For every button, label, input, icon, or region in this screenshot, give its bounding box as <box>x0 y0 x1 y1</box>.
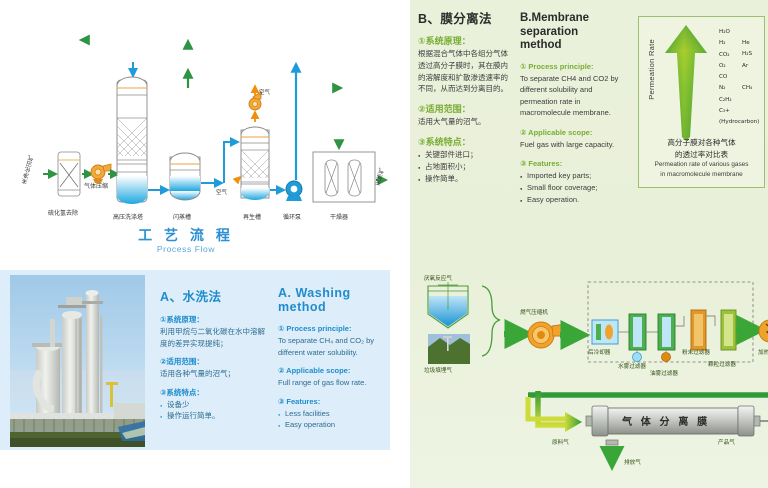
washing-en-body-0: To separate CH₄ and CO₂ by different wat… <box>278 335 390 358</box>
membrane-cn-title-1: ②适用范围： <box>418 103 515 115</box>
membrane-cn-title-0: ①系统原理： <box>418 35 515 47</box>
membrane-cn-body-0: 根据混合气体中各组分气体透过高分子膜时，其在膜内的溶解度和扩散渗透速率的不同，从… <box>418 48 515 95</box>
label-water-mist-filter: 水雾过滤器 <box>618 362 646 370</box>
process-flow-title: 工 艺 流 程 Process Flow <box>0 228 372 255</box>
membrane-cn-bullet-2: 操作简单。 <box>418 173 515 185</box>
gas-h2o: H₂O <box>719 27 764 38</box>
washing-cn-body-0: 利用甲烷与二氧化碳在水中溶解度的差异实现提纯； <box>160 326 270 349</box>
membrane-module-label: 气 体 分 离 膜 <box>622 413 710 428</box>
membrane-en-bullet-0: Imported key parts; <box>520 170 620 182</box>
label-landfill-gas: 垃圾填埋气 <box>424 366 452 374</box>
label-h2s-removal: 硫化氢去除 <box>48 208 78 217</box>
washing-heading-cn: A、水洗法 <box>160 286 270 305</box>
process-flow-piping-svg <box>0 0 390 230</box>
label-air-outlet: 空气 <box>259 88 270 96</box>
permeation-rate-chart: Permeation Rate <box>638 16 765 188</box>
membrane-cn-body-1: 适用大气量的沼气。 <box>418 116 515 128</box>
membrane-en-body-0: To separate CH4 and CO2 by different sol… <box>520 73 620 119</box>
washing-cn-title-1: ②适用范围： <box>160 356 270 367</box>
permeation-caption-en-2: in macromolecule membrane <box>639 170 764 180</box>
membrane-en-column: B.Membrane separation method ① Process p… <box>520 12 620 205</box>
label-circulation-pump: 循环泵 <box>283 212 301 221</box>
label-feed-gas: 原料气 <box>552 438 569 446</box>
right-column: B、膜分离法 ①系统原理： 根据混合气体中各组分气体透过高分子膜时，其在膜内的溶… <box>390 0 768 488</box>
washing-en-body-1: Full range of gas flow rate. <box>278 377 390 389</box>
label-aftercooler: 后冷却器 <box>588 348 610 356</box>
label-anaerobic-gas: 厌氧反应气 <box>424 274 452 282</box>
permeation-caption-cn-1: 高分子膜对各种气体 <box>639 137 764 149</box>
label-dryer: 干燥器 <box>330 212 348 221</box>
gas-c2h2: C₂H₂ <box>719 95 764 106</box>
membrane-heading-cn: B、膜分离法 <box>418 12 515 27</box>
permeation-caption-en-1: Permeation rate of various gases <box>639 160 764 170</box>
gas-ch4: CH₄ <box>742 83 752 94</box>
permeation-caption: 高分子膜对各种气体 的透过率对比表 Permeation rate of var… <box>639 137 764 179</box>
label-hp-scrubber: 高压洗涤塔 <box>113 212 143 221</box>
washing-heading-en: A. Washing method <box>278 286 390 314</box>
gas-he: He <box>742 38 752 49</box>
washing-en-bullet-1: Easy operation <box>278 419 390 431</box>
washing-en-title-2: ③ Features: <box>278 396 390 407</box>
label-product-gas: 产品气 <box>718 438 735 446</box>
label-oil-mist-filter: 油雾过滤器 <box>650 369 678 377</box>
permeation-arrow-icon <box>661 23 711 141</box>
plant-photo-svg <box>10 275 145 447</box>
membrane-heading-en-line1: B.Membrane <box>520 12 620 26</box>
membrane-en-body-1: Fuel gas with large capacity. <box>520 139 620 151</box>
membrane-en-bullet-2: Easy operation. <box>520 194 620 206</box>
label-particle-filter: 颗粒过滤器 <box>708 360 736 368</box>
permeation-axis-label: Permeation Rate <box>647 39 656 100</box>
brochure-page: 未净化沼气 硫化氢去除 气体压缩 高压洗涤塔 闪蒸槽 再生槽 循环泵 干燥器 天… <box>0 0 768 488</box>
label-flash-tank: 闪蒸槽 <box>173 212 191 221</box>
label-air-inlet: 空气 <box>216 188 227 196</box>
membrane-en-bullet-1: Small floor coverage; <box>520 182 620 194</box>
washing-en-title-1: ② Applicable scope: <box>278 365 390 376</box>
washing-method-en-column: A. Washing method ① Process principle: T… <box>278 286 390 431</box>
washing-cn-bullet-1: 操作运行简单。 <box>160 410 270 422</box>
permeation-caption-cn-2: 的透过率对比表 <box>639 149 764 161</box>
left-column: 未净化沼气 硫化氢去除 气体压缩 高压洗涤塔 闪蒸槽 再生槽 循环泵 干燥器 天… <box>0 0 390 488</box>
membrane-heading-en-line2: separation method <box>520 26 620 53</box>
gas-ar: Ar <box>742 61 752 72</box>
label-gas-compression: 气体压缩 <box>84 181 108 190</box>
membrane-en-title-2: ③ Features: <box>520 158 620 169</box>
washing-method-cn-column: A、水洗法 ①系统原理： 利用甲烷与二氧化碳在水中溶解度的差异实现提纯； ②适用… <box>160 286 270 422</box>
label-regeneration-tank: 再生槽 <box>243 212 261 221</box>
label-powder-filter: 粉末过滤器 <box>682 348 710 356</box>
permeation-gas-column-right: He H₂S Ar CH₄ <box>742 38 752 94</box>
gas-separation-diagram: 气 体 分 离 膜 厌氧反应气 垃圾填埋气 燃气压缩机 后冷却器 水雾过滤器 油… <box>410 258 768 488</box>
membrane-en-title-1: ② Applicable scope: <box>520 127 620 138</box>
process-flow-title-cn: 工 艺 流 程 <box>0 228 372 243</box>
gas-c3plus: C₃+(Hydrocarbon) <box>719 106 764 129</box>
membrane-cn-title-2: ③系统特点： <box>418 136 515 148</box>
washing-cn-title-0: ①系统原理： <box>160 314 270 325</box>
gas-h2s: H₂S <box>742 49 752 60</box>
membrane-en-title-0: ① Process principle: <box>520 61 620 72</box>
label-gas-compressor: 燃气压缩机 <box>520 308 548 316</box>
label-vent-gas: 排放气 <box>624 458 641 466</box>
plant-photo <box>10 275 145 447</box>
membrane-cn-bullet-0: 关键部件进口； <box>418 149 515 161</box>
washing-cn-bullet-0: 设备少 <box>160 399 270 411</box>
label-heater: 加热器 <box>758 348 768 356</box>
washing-en-bullet-0: Less facilities <box>278 408 390 420</box>
washing-en-title-0: ① Process principle: <box>278 323 390 334</box>
membrane-cn-bullet-1: 占地面积小； <box>418 161 515 173</box>
membrane-cn-column: B、膜分离法 ①系统原理： 根据混合气体中各组分气体透过高分子膜时，其在膜内的溶… <box>418 12 515 184</box>
washing-cn-title-2: ③系统特点： <box>160 387 270 398</box>
process-flow-title-en: Process Flow <box>0 243 372 255</box>
process-flow-diagram: 未净化沼气 硫化氢去除 气体压缩 高压洗涤塔 闪蒸槽 再生槽 循环泵 干燥器 天… <box>0 0 390 260</box>
washing-cn-body-1: 适用各种气量的沼气； <box>160 368 270 380</box>
